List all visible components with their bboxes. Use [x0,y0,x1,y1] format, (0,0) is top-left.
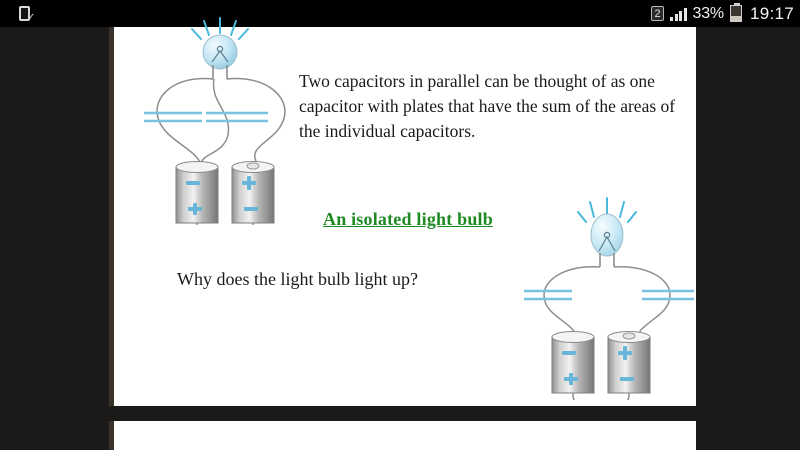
tablet-check-icon: ✓ [18,4,38,24]
battery-left [176,162,218,224]
capacitor-plate-pair-right [206,113,268,121]
battery-right [232,162,274,224]
battery-icon [730,5,742,22]
capacitor-plate-pair-right [642,291,694,299]
capacitor-plates-group [144,113,268,121]
section-heading-isolated-light-bulb: An isolated light bulb [323,209,493,230]
battery-right [608,332,650,394]
sim-badge: 2 [651,6,664,21]
bulb-glass [591,214,623,256]
battery-return-wires [573,393,629,400]
page-left-edge [109,27,114,406]
question-text: Why does the light bulb light up? [177,269,418,290]
slide-page-1[interactable]: Two capacitors in parallel can be though… [114,27,696,406]
capacitor-plates-group [524,291,694,299]
battery-fill [731,16,741,21]
check-mark-glyph: ✓ [27,14,35,22]
page-left-edge [109,421,114,450]
status-bar: ✓ 2 33% 19:17 [0,0,800,27]
clock-label: 19:17 [748,4,794,24]
battery-percent-label: 33% [693,5,724,23]
screen-root: ✓ 2 33% 19:17 [0,0,800,450]
capacitor-plate-pair-left [144,113,202,121]
circuit-wires [544,267,670,337]
isolated-light-bulb-circuit [524,195,694,400]
slide-page-2[interactable] [114,421,696,450]
capacitor-plate-pair-left [524,291,572,299]
body-paragraph: Two capacitors in parallel can be though… [299,69,684,144]
circuit-wires [157,79,285,167]
parallel-capacitors-circuit [144,15,304,225]
status-icons-group: 2 33% 19:17 [651,0,794,27]
signal-bars-icon [670,6,687,21]
battery-left [552,332,594,394]
